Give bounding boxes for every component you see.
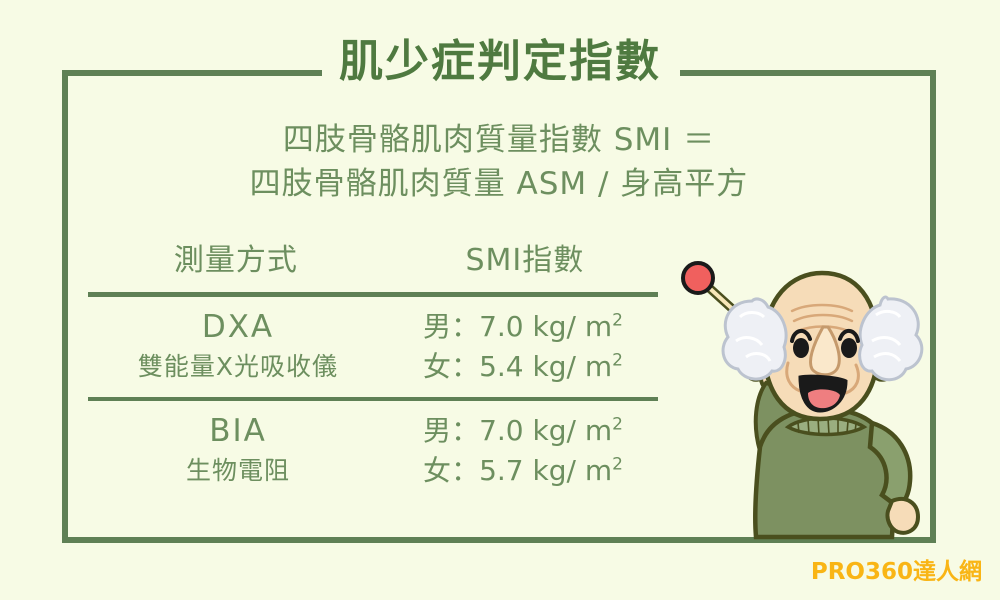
value-female-label: 女 [423, 350, 451, 383]
value-cell-bia: 男：7.0 kg/ m2 女：5.7 kg/ m2 [388, 411, 658, 491]
right-hand [887, 499, 918, 533]
method-cell-bia: BIA 生物電阻 [88, 411, 388, 491]
value-male-number: 7.0 [479, 414, 524, 447]
value-female-number: 5.7 [479, 454, 524, 487]
value-female-sep: ： [451, 350, 479, 383]
watermark-logo: PRO360達人網 [811, 552, 982, 586]
column-header-smi: SMI指數 [384, 238, 658, 284]
value-female-label: 女 [423, 454, 451, 487]
method-abbr: BIA [88, 411, 388, 451]
value-female-unit: kg/ m [533, 350, 613, 383]
value-female-sep: ： [451, 454, 479, 487]
value-male-unit: kg/ m [533, 414, 613, 447]
value-male-sep: ： [451, 310, 479, 343]
value-female: 女：5.7 kg/ m2 [388, 451, 658, 491]
page-title: 肌少症判定指數 [0, 40, 1000, 84]
value-male: 男：7.0 kg/ m2 [388, 411, 658, 451]
method-abbr: DXA [88, 307, 388, 347]
column-header-method: 測量方式 [88, 238, 384, 284]
value-male-label: 男 [423, 414, 451, 447]
value-male-sep: ： [451, 414, 479, 447]
method-cell-dxa: DXA 雙能量X光吸收儀 [88, 307, 388, 387]
value-male: 男：7.0 kg/ m2 [388, 307, 658, 347]
value-female: 女：5.4 kg/ m2 [388, 347, 658, 387]
table-row: DXA 雙能量X光吸收儀 男：7.0 kg/ m2 女：5.4 kg/ m2 [88, 297, 658, 391]
value-male-unit: kg/ m [533, 310, 613, 343]
hair-left [723, 299, 786, 379]
formula-block: 四肢骨骼肌肉質量指數 SMI ＝ 四肢骨骼肌肉質量 ASM / 身高平方 [62, 118, 936, 206]
formula-line-1: 四肢骨骼肌肉質量指數 SMI ＝ [62, 118, 936, 162]
infographic-canvas: 肌少症判定指數 四肢骨骼肌肉質量指數 SMI ＝ 四肢骨骼肌肉質量 ASM / … [0, 0, 1000, 600]
table-header-row: 測量方式 SMI指數 [88, 238, 658, 284]
value-cell-dxa: 男：7.0 kg/ m2 女：5.4 kg/ m2 [388, 307, 658, 387]
value-male-label: 男 [423, 310, 451, 343]
value-female-number: 5.4 [479, 350, 524, 383]
value-male-exponent: 2 [612, 311, 623, 331]
formula-line-2: 四肢骨骼肌肉質量 ASM / 身高平方 [62, 162, 936, 206]
value-male-number: 7.0 [479, 310, 524, 343]
method-name: 生物電阻 [88, 451, 388, 491]
value-female-exponent: 2 [612, 455, 623, 475]
table-row: BIA 生物電阻 男：7.0 kg/ m2 女：5.7 kg/ m2 [88, 401, 658, 495]
value-male-exponent: 2 [612, 415, 623, 435]
value-female-unit: kg/ m [533, 454, 613, 487]
value-female-exponent: 2 [612, 351, 623, 371]
elderly-man-illustration [660, 255, 1000, 545]
smi-table: 測量方式 SMI指數 DXA 雙能量X光吸收儀 男：7.0 kg/ m2 女：5… [88, 238, 658, 495]
method-name: 雙能量X光吸收儀 [88, 347, 388, 387]
